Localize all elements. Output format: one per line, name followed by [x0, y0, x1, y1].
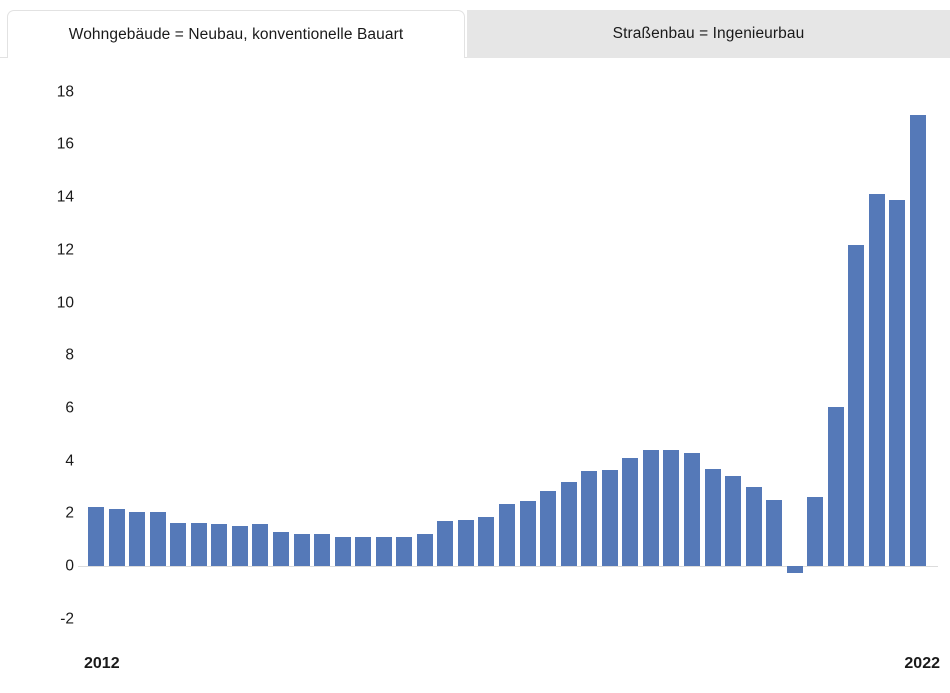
bar[interactable]	[191, 523, 207, 566]
bar[interactable]	[294, 534, 310, 566]
bar[interactable]	[705, 469, 721, 566]
bar[interactable]	[581, 471, 597, 566]
tab-bar: Wohngebäude = Neubau, konventionelle Bau…	[0, 0, 950, 60]
bar[interactable]	[766, 500, 782, 566]
bar[interactable]	[417, 534, 433, 566]
bar[interactable]	[232, 526, 248, 566]
bar[interactable]	[889, 200, 905, 566]
bar[interactable]	[273, 532, 289, 566]
bar-series	[0, 60, 950, 693]
bar[interactable]	[437, 521, 453, 566]
bar[interactable]	[458, 520, 474, 566]
bar[interactable]	[170, 523, 186, 566]
bar[interactable]	[725, 476, 741, 566]
bar[interactable]	[88, 507, 104, 566]
bar[interactable]	[828, 407, 844, 566]
bar[interactable]	[335, 537, 351, 566]
x-axis-label-end: 2022	[904, 655, 940, 673]
bar[interactable]	[807, 497, 823, 566]
bar[interactable]	[520, 501, 536, 566]
x-axis-label-start: 2012	[84, 655, 120, 673]
bar[interactable]	[211, 524, 227, 566]
bar[interactable]	[848, 245, 864, 566]
bar[interactable]	[787, 566, 803, 573]
bar[interactable]	[622, 458, 638, 566]
bar[interactable]	[910, 115, 926, 566]
bar[interactable]	[561, 482, 577, 566]
bar[interactable]	[376, 537, 392, 566]
bar[interactable]	[602, 470, 618, 566]
bar[interactable]	[869, 194, 885, 566]
bar[interactable]	[499, 504, 515, 566]
bar-chart: 181614121086420-2 2012 2022	[0, 60, 950, 693]
bar[interactable]	[252, 524, 268, 566]
bar[interactable]	[150, 512, 166, 566]
bar[interactable]	[643, 450, 659, 566]
bar[interactable]	[314, 534, 330, 566]
bar[interactable]	[478, 517, 494, 566]
tab-strassenbau[interactable]: Straßenbau = Ingenieurbau	[467, 10, 950, 58]
bar[interactable]	[663, 450, 679, 566]
bar[interactable]	[109, 509, 125, 566]
bar[interactable]	[396, 537, 412, 566]
bar[interactable]	[129, 512, 145, 566]
bar[interactable]	[684, 453, 700, 566]
bar[interactable]	[540, 491, 556, 566]
tab-wohngebaeude[interactable]: Wohngebäude = Neubau, konventionelle Bau…	[7, 10, 465, 58]
bar[interactable]	[355, 537, 371, 566]
bar[interactable]	[746, 487, 762, 566]
